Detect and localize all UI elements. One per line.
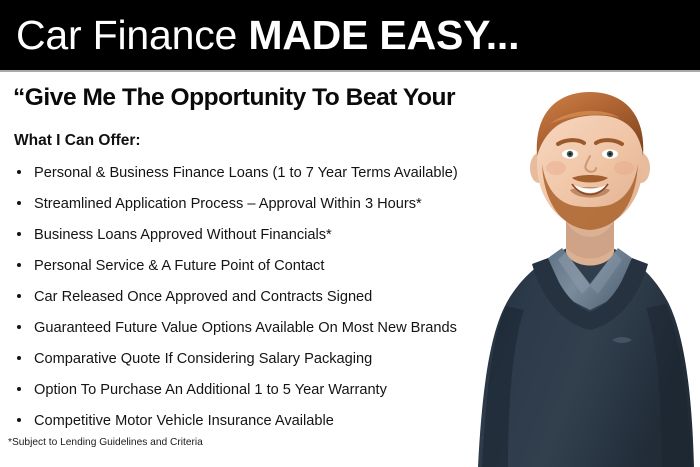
list-item-label: Streamlined Application Process – Approv… <box>34 196 422 212</box>
list-item: Personal Service & A Future Point of Con… <box>14 255 514 286</box>
page-title: Car Finance MADE EASY... <box>16 12 519 58</box>
list-item: Business Loans Approved Without Financia… <box>14 224 514 255</box>
offer-list: Personal & Business Finance Loans (1 to … <box>14 162 514 441</box>
right-cheek <box>614 161 634 175</box>
list-item: Guaranteed Future Value Options Availabl… <box>14 317 514 348</box>
list-item: Comparative Quote If Considering Salary … <box>14 348 514 379</box>
list-item: Car Released Once Approved and Contracts… <box>14 286 514 317</box>
bullet-dot-icon <box>17 418 21 422</box>
list-item-label: Car Released Once Approved and Contracts… <box>34 289 372 305</box>
list-item-label: Business Loans Approved Without Financia… <box>34 227 332 243</box>
bullet-dot-icon <box>17 387 21 391</box>
bullet-dot-icon <box>17 263 21 267</box>
list-item-label: Option To Purchase An Additional 1 to 5 … <box>34 382 387 398</box>
list-item-label: Comparative Quote If Considering Salary … <box>34 351 372 367</box>
list-item-label: Competitive Motor Vehicle Insurance Avai… <box>34 413 334 429</box>
left-eye-pupil <box>569 153 572 156</box>
car-finance-poster: Car Finance MADE EASY... “Give Me The Op… <box>0 0 700 467</box>
offer-heading: What I Can Offer: <box>14 131 141 150</box>
list-item: Streamlined Application Process – Approv… <box>14 193 514 224</box>
bullet-dot-icon <box>17 325 21 329</box>
header-band: Car Finance MADE EASY... <box>0 0 700 70</box>
list-item-label: Personal Service & A Future Point of Con… <box>34 258 324 274</box>
page-title-regular: Car Finance <box>16 12 248 58</box>
right-eye-pupil <box>609 153 612 156</box>
list-item: Option To Purchase An Additional 1 to 5 … <box>14 379 514 410</box>
bullet-dot-icon <box>17 232 21 236</box>
list-item-label: Guaranteed Future Value Options Availabl… <box>34 320 457 336</box>
bullet-dot-icon <box>17 294 21 298</box>
list-item-label: Personal & Business Finance Loans (1 to … <box>34 165 458 181</box>
bullet-dot-icon <box>17 201 21 205</box>
footnote-disclaimer: *Subject to Lending Guidelines and Crite… <box>8 436 203 450</box>
list-item: Personal & Business Finance Loans (1 to … <box>14 162 514 193</box>
left-cheek <box>546 161 566 175</box>
bullet-dot-icon <box>17 170 21 174</box>
page-title-bold: MADE EASY... <box>248 12 519 58</box>
bullet-dot-icon <box>17 356 21 360</box>
